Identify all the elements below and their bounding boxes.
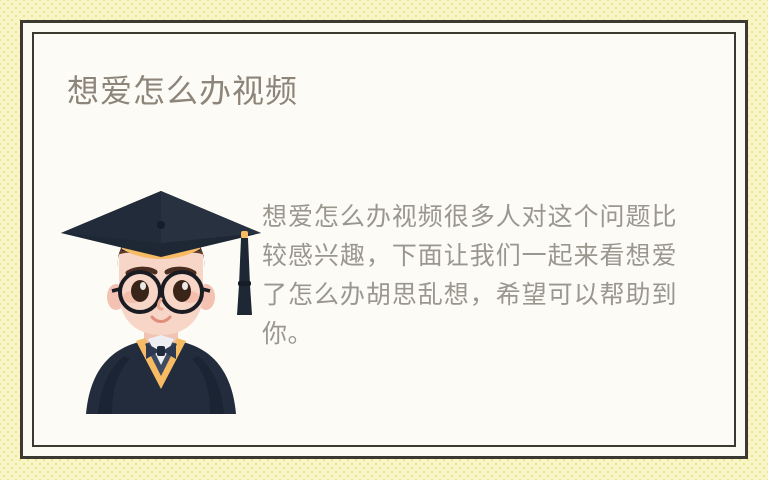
article-body-text: 想爱怎么办视频很多人对这个问题比较感兴趣，下面让我们一起来看想爱了怎么办胡思乱想… bbox=[262, 197, 677, 353]
eye-right bbox=[173, 280, 191, 302]
cap-button bbox=[157, 221, 165, 229]
academic-gown-group bbox=[86, 322, 236, 414]
page-canvas: 想爱怎么办视频 bbox=[0, 0, 768, 480]
graduate-student-illustration bbox=[56, 189, 266, 414]
eye-left bbox=[131, 280, 149, 302]
cap-tassel bbox=[237, 231, 252, 315]
page-title: 想爱怎么办视频 bbox=[67, 71, 298, 111]
outer-frame-border: 想爱怎么办视频 bbox=[20, 20, 748, 459]
inner-frame-border: 想爱怎么办视频 bbox=[32, 32, 736, 447]
